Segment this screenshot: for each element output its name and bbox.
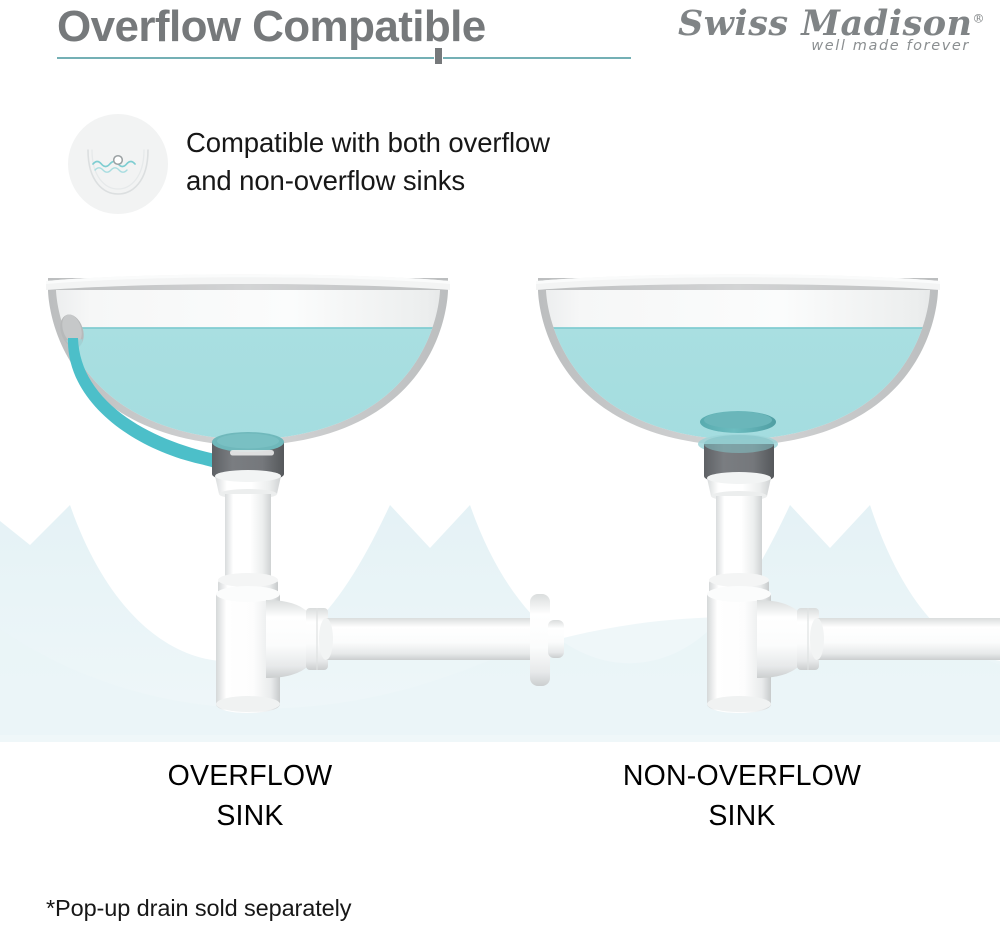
popup-stopper-disc-top	[704, 412, 772, 429]
drain-top-disc-inner	[217, 434, 279, 449]
title-descender-overlap	[435, 48, 442, 64]
tailpiece-pipe	[716, 496, 762, 586]
caption-overflow-sink: OVERFLOW SINK	[80, 756, 420, 837]
registered-trademark-icon: ®	[972, 11, 985, 25]
water-surface-line	[40, 327, 460, 329]
caption-left-line-1: OVERFLOW	[80, 756, 420, 796]
sink-comparison-diagram	[0, 250, 1000, 750]
drain-collar-top	[704, 435, 774, 453]
overflow-sink-diagram	[40, 270, 564, 713]
wall-flange	[530, 594, 550, 686]
page-title: Overflow Compatible	[57, 0, 486, 55]
water-surface-line	[530, 327, 950, 329]
drain-assembly	[212, 432, 284, 499]
header: Overflow Compatible Swiss Madison® well …	[0, 0, 1000, 80]
caption-non-overflow-sink: NON-OVERFLOW SINK	[572, 756, 912, 837]
feature-icon-badge	[68, 114, 168, 214]
feature-callout: Compatible with both overflow and non-ov…	[68, 112, 668, 218]
horizontal-outlet-pipe	[266, 594, 564, 686]
outlet-pipe-run	[817, 618, 1000, 660]
title-underline-rule	[57, 57, 631, 59]
wall-flange-stub	[548, 620, 564, 658]
feature-text-line-1: Compatible with both overflow	[186, 127, 550, 158]
feature-text: Compatible with both overflow and non-ov…	[186, 124, 656, 199]
caption-right-line-1: NON-OVERFLOW	[572, 756, 912, 796]
feature-text-line-2: and non-overflow sinks	[186, 165, 465, 196]
brand-logo: Swiss Madison® well made forever	[678, 6, 978, 68]
bottle-trap-base	[707, 696, 771, 712]
horizontal-outlet-pipe	[757, 600, 1000, 678]
caption-right-line-2: SINK	[572, 796, 912, 836]
bottle-trap-base	[216, 696, 280, 712]
sink-basin-water-icon	[68, 114, 168, 214]
drain-grid-slot	[230, 450, 274, 456]
drain-assembly	[698, 434, 778, 501]
non-overflow-sink-diagram	[530, 270, 1000, 713]
tailpiece-pipe	[225, 494, 271, 586]
brand-wordmark: Swiss Madison®	[678, 6, 978, 41]
infographic-page: Overflow Compatible Swiss Madison® well …	[0, 0, 1000, 931]
outlet-pipe-run	[326, 618, 536, 660]
caption-left-line-2: SINK	[80, 796, 420, 836]
footnote: *Pop-up drain sold separately	[46, 895, 351, 922]
popup-stopper	[700, 411, 776, 433]
